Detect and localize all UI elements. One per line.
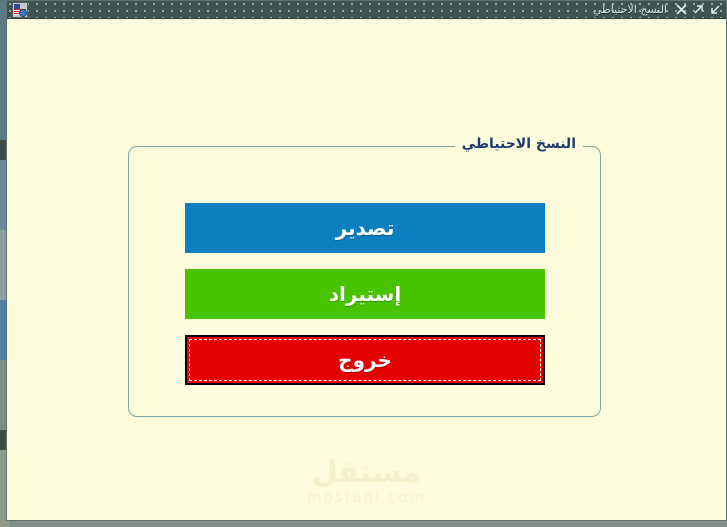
export-button-label: تصدير bbox=[336, 216, 395, 240]
watermark-arabic: مستقل bbox=[7, 457, 726, 489]
backup-group-box: النسخ الاحتياطي تصدير إستيراد خروج bbox=[128, 146, 601, 417]
watermark-latin: mostaql.com bbox=[7, 488, 726, 506]
import-button-label: إستيراد bbox=[329, 282, 401, 306]
group-box-legend: النسخ الاحتياطي bbox=[455, 136, 583, 152]
window-title: النسخ الاحتياطي bbox=[593, 3, 671, 16]
minimize-icon[interactable] bbox=[708, 2, 723, 17]
exit-button-label: خروج bbox=[338, 348, 392, 372]
maximize-icon[interactable] bbox=[691, 2, 706, 17]
close-icon[interactable] bbox=[674, 2, 689, 17]
flag-globe-icon bbox=[12, 2, 28, 18]
client-area: النسخ الاحتياطي تصدير إستيراد خروج مستقل… bbox=[7, 19, 726, 520]
globe-icon bbox=[19, 9, 27, 17]
desktop-background: النسخ الاحتياطي النسخ الاحتياطي تصدير إس… bbox=[0, 0, 727, 527]
window-controls bbox=[673, 2, 724, 17]
export-button[interactable]: تصدير bbox=[185, 203, 545, 253]
import-button[interactable]: إستيراد bbox=[185, 269, 545, 319]
watermark: مستقل mostaql.com bbox=[7, 457, 726, 507]
title-bar[interactable]: النسخ الاحتياطي bbox=[7, 1, 726, 19]
exit-button[interactable]: خروج bbox=[185, 335, 545, 385]
backup-window: النسخ الاحتياطي النسخ الاحتياطي تصدير إس… bbox=[6, 0, 727, 521]
